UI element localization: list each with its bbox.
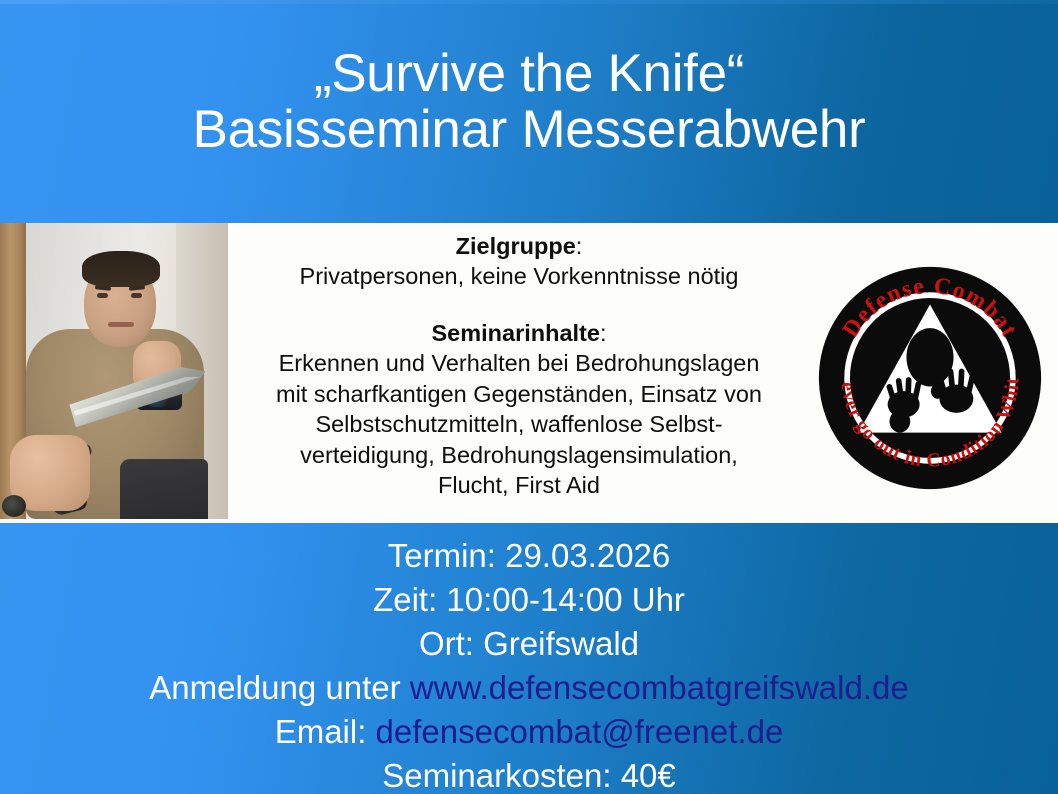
email-address-link[interactable]: defensecombat@freenet.de <box>376 713 784 750</box>
seminar-contents-line-3: Selbstschutzmitteln, waffenlose Selbst- <box>236 409 802 439</box>
target-group-block: Zielgruppe: Privatpersonen, keine Vorken… <box>236 231 802 292</box>
flyer-poster: „Survive the Knife“ Basisseminar Messera… <box>0 0 1058 794</box>
time-value: 10:00-14:00 Uhr <box>446 581 685 618</box>
photo-knife-pommel <box>2 495 26 517</box>
photo-eye-right <box>131 293 142 298</box>
price-value: 40€ <box>621 757 676 794</box>
seminar-contents-line-2: mit scharfkantigen Gegenständen, Einsatz… <box>236 379 802 409</box>
detail-row-price: Seminarkosten: 40€ <box>0 754 1058 794</box>
poster-title: „Survive the Knife“ Basisseminar Messera… <box>0 46 1058 158</box>
photo-trousers <box>120 459 208 519</box>
time-label: Zeit: <box>373 581 437 618</box>
date-label: Termin: <box>388 537 496 574</box>
title-line-secondary: Basisseminar Messerabwehr <box>0 102 1058 158</box>
seminar-copy: Zielgruppe: Privatpersonen, keine Vorken… <box>236 231 802 500</box>
seminar-contents-line-5: Flucht, First Aid <box>236 470 802 500</box>
registration-website-link[interactable]: www.defensecombatgreifswald.de <box>410 669 909 706</box>
defense-combat-logo: Defense Combat Never go out in Condition… <box>817 258 1043 498</box>
logo-head-silhouette <box>906 328 953 386</box>
place-label: Ort: <box>419 625 474 662</box>
place-value: Greifswald <box>483 625 639 662</box>
instructor-photo <box>0 223 228 519</box>
seminar-contents-heading: Seminarinhalte <box>431 320 599 346</box>
title-line-primary: „Survive the Knife“ <box>0 46 1058 102</box>
photo-hair <box>82 251 160 287</box>
seminar-contents-line-4: verteidigung, Bedrohungslagensimulation, <box>236 440 802 470</box>
event-details: Termin: 29.03.2026 Zeit: 10:00-14:00 Uhr… <box>0 534 1058 794</box>
detail-row-time: Zeit: 10:00-14:00 Uhr <box>0 578 1058 622</box>
detail-row-email: Email: defensecombat@freenet.de <box>0 710 1058 754</box>
header-top-accent-line <box>0 0 1058 4</box>
detail-row-date: Termin: 29.03.2026 <box>0 534 1058 578</box>
email-label: Email: <box>275 713 367 750</box>
target-group-colon: : <box>576 233 583 259</box>
detail-row-registration: Anmeldung unter www.defensecombatgreifsw… <box>0 666 1058 710</box>
photo-eye-left <box>97 293 108 298</box>
photo-mouth <box>108 322 134 327</box>
seminar-contents-colon: : <box>600 320 607 346</box>
price-label: Seminarkosten: <box>382 757 611 794</box>
copy-spacer <box>236 292 802 318</box>
target-group-heading: Zielgruppe <box>456 233 576 259</box>
date-value: 29.03.2026 <box>505 537 670 574</box>
seminar-contents-block: Seminarinhalte: Erkennen und Verhalten b… <box>236 318 802 501</box>
target-group-text: Privatpersonen, keine Vorkenntnisse nöti… <box>236 261 802 291</box>
registration-label: Anmeldung unter <box>149 669 400 706</box>
seminar-contents-line-1: Erkennen und Verhalten bei Bedrohungslag… <box>236 348 802 378</box>
detail-row-place: Ort: Greifswald <box>0 622 1058 666</box>
